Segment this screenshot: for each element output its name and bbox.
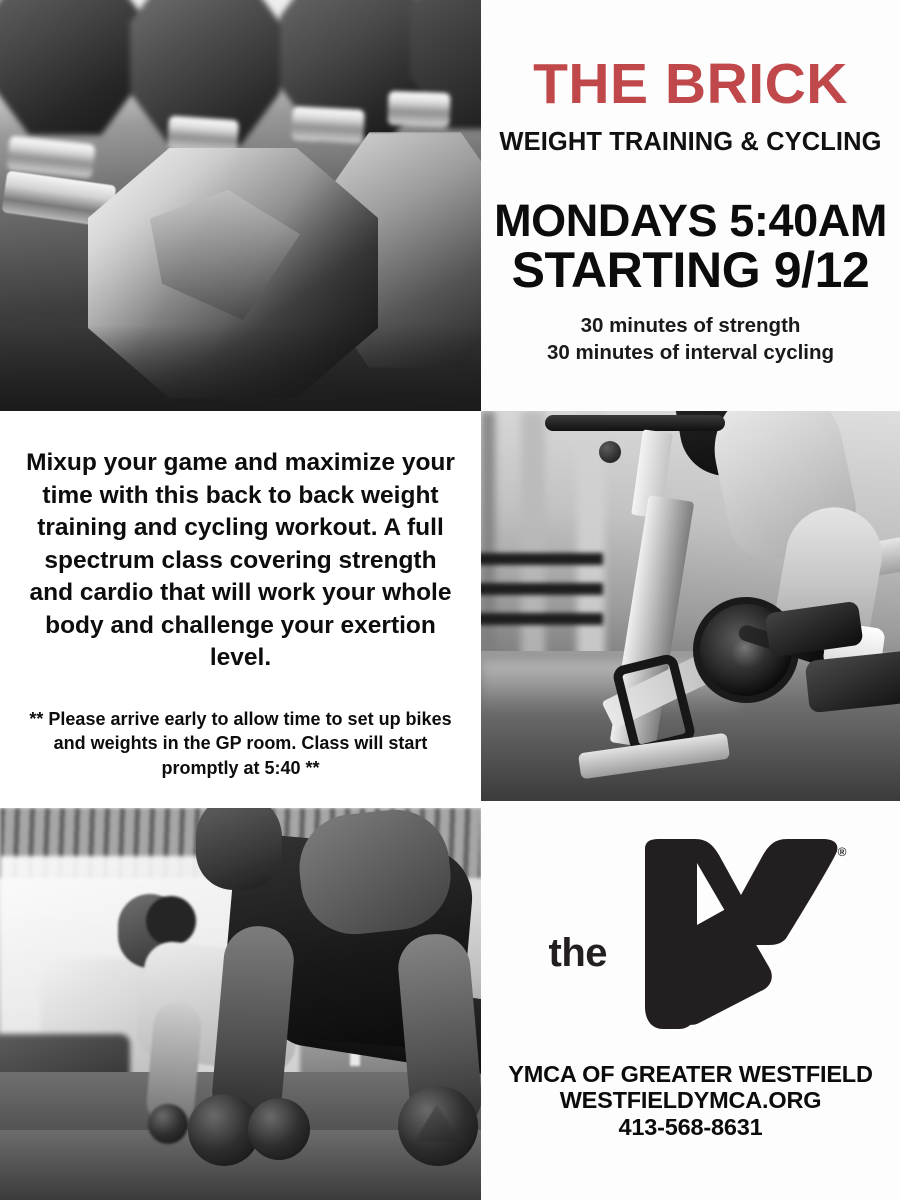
title-block: THE BRICK WEIGHT TRAINING & CYCLING MOND… [481,0,900,411]
description-body: Mixup your game and maximize your time w… [20,447,461,675]
dumbbell-rack-photo [0,0,481,411]
registered-trademark-icon: ® [838,845,847,859]
logo-the-text: the [549,931,608,976]
description-note: ** Please arrive early to allow time to … [20,707,461,780]
page-title: THE BRICK [533,56,848,113]
y-logo-icon [637,839,841,1029]
contact-phone[interactable]: 413-568-8631 [508,1114,872,1140]
contact-info: YMCA OF GREATER WESTFIELD WESTFIELDYMCA.… [508,1061,872,1140]
contact-website[interactable]: WESTFIELDYMCA.ORG [508,1087,872,1113]
brand-block: the ® YMCA YMCA OF GREATER WESTFIELD WES… [481,801,900,1200]
description-block: Mixup your game and maximize your time w… [0,411,481,808]
pushup-dumbbell-photo [0,808,481,1200]
class-detail-strength: 30 minutes of strength [547,313,834,340]
contact-organization: YMCA OF GREATER WESTFIELD [508,1061,872,1087]
flyer-page: THE BRICK WEIGHT TRAINING & CYCLING MOND… [0,0,900,1200]
spin-bike-photo [481,411,900,801]
ymca-logo: the ® YMCA [541,839,841,1039]
class-breakdown: 30 minutes of strength 30 minutes of int… [547,313,834,366]
schedule-start-date: STARTING 9/12 [512,245,870,296]
schedule-day: MONDAYS 5:40AM [494,198,887,244]
page-subtitle: WEIGHT TRAINING & CYCLING [499,130,881,156]
class-detail-cycling: 30 minutes of interval cycling [547,340,834,367]
